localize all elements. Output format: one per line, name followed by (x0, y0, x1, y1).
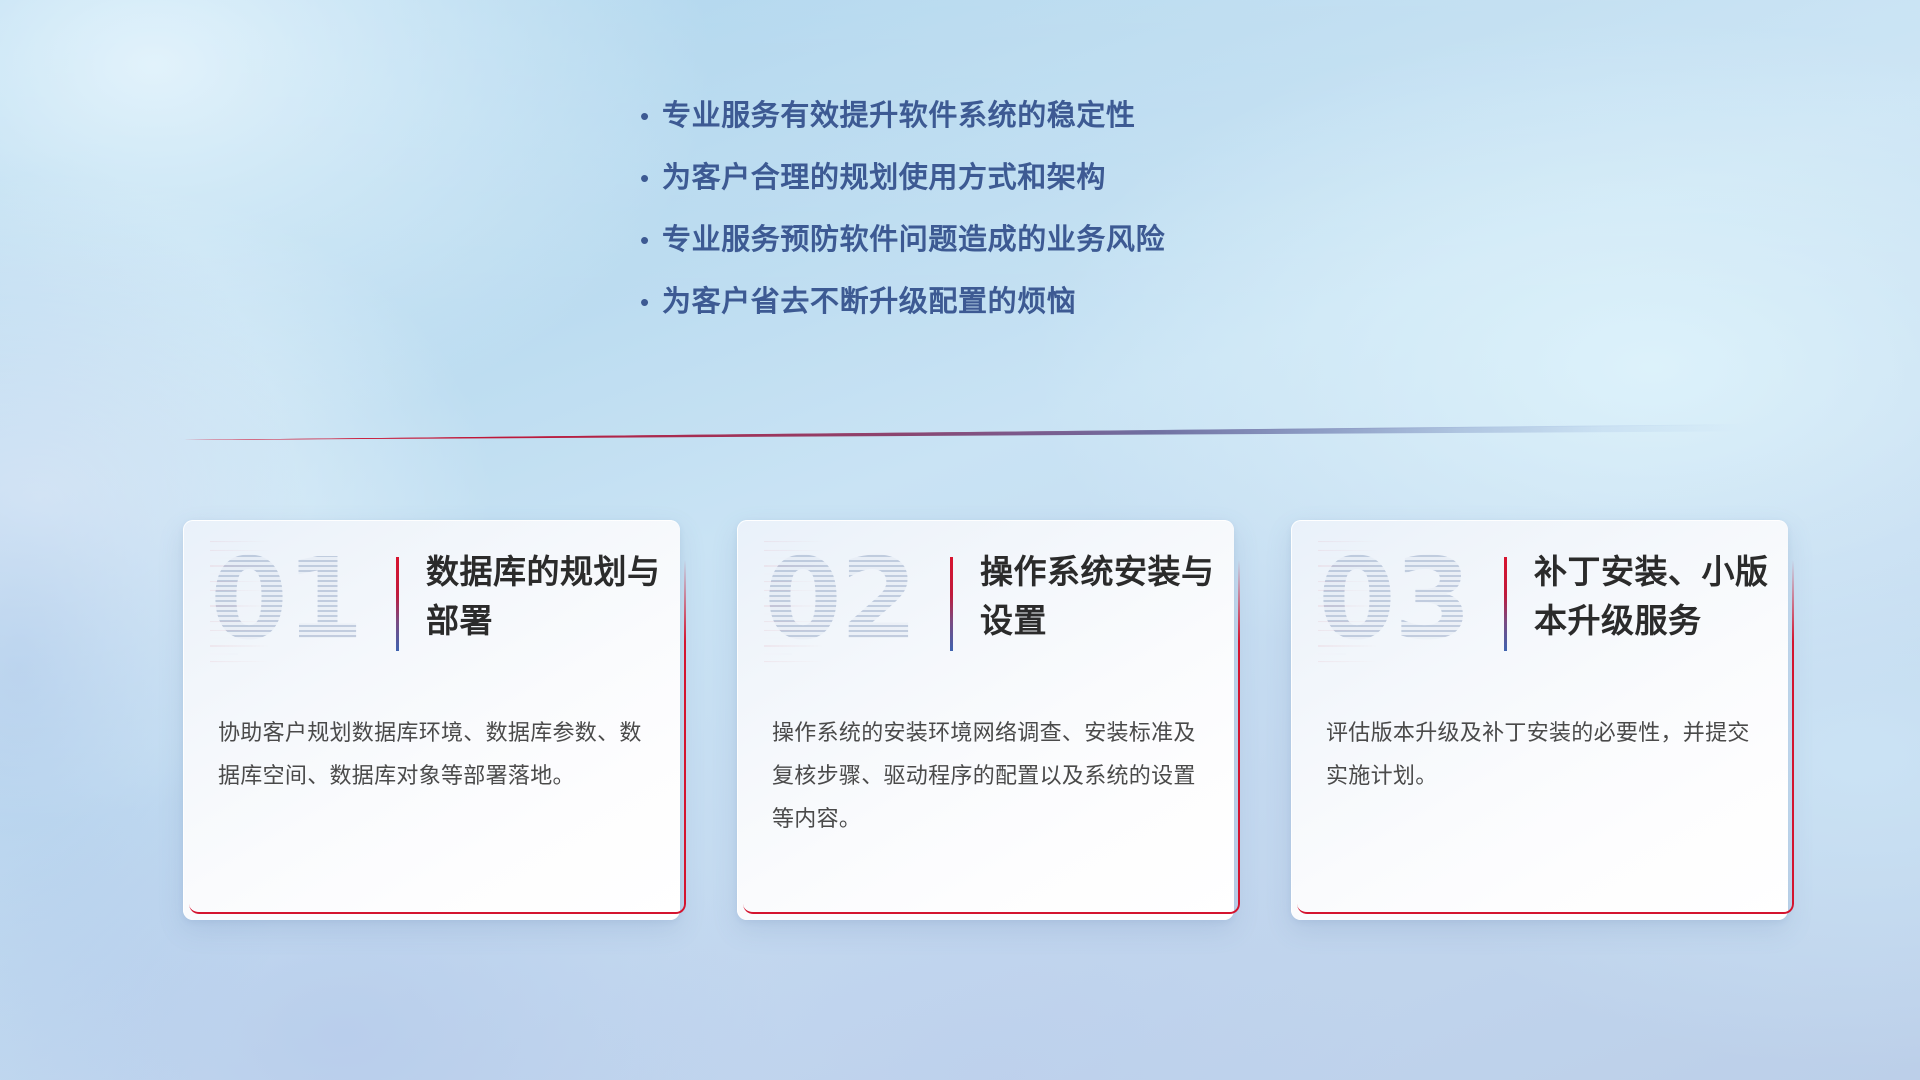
card-surface: 01 数据库的规划与部署 协助客户规划数据库环境、数据库参数、数据库空间、数据库… (183, 520, 680, 920)
card-body-text: 协助客户规划数据库环境、数据库参数、数据库空间、数据库对象等部署落地。 (218, 711, 654, 797)
card-title-rule (1504, 557, 1507, 651)
card-header: 02 操作系统安装与设置 (738, 521, 1234, 681)
list-item: • 为客户合理的规划使用方式和架构 (640, 158, 1400, 198)
card-header: 03 补丁安装、小版本升级服务 (1292, 521, 1788, 681)
card-body-text: 操作系统的安装环境网络调查、安装标准及复核步骤、驱动程序的配置以及系统的设置等内… (772, 711, 1208, 840)
card-number-watermark: 01 (210, 535, 362, 665)
card-title: 补丁安装、小版本升级服务 (1534, 547, 1770, 645)
service-card-grid: 01 数据库的规划与部署 协助客户规划数据库环境、数据库参数、数据库空间、数据库… (183, 520, 1788, 920)
card-title-rule (950, 557, 953, 651)
bullet-text: 专业服务预防软件问题造成的业务风险 (662, 220, 1165, 260)
benefits-bullet-list: • 专业服务有效提升软件系统的稳定性 • 为客户合理的规划使用方式和架构 • 专… (640, 96, 1400, 344)
list-item: • 为客户省去不断升级配置的烦恼 (640, 282, 1400, 322)
service-card-03[interactable]: 03 补丁安装、小版本升级服务 评估版本升级及补丁安装的必要性，并提交实施计划。 (1291, 520, 1788, 920)
card-title-rule (396, 557, 399, 651)
bullet-text: 为客户省去不断升级配置的烦恼 (662, 282, 1076, 322)
bullet-text: 专业服务有效提升软件系统的稳定性 (662, 96, 1136, 136)
card-header: 01 数据库的规划与部署 (184, 521, 680, 681)
bullet-dot-icon: • (640, 96, 662, 136)
card-surface: 02 操作系统安装与设置 操作系统的安装环境网络调查、安装标准及复核步骤、驱动程… (737, 520, 1234, 920)
list-item: • 专业服务预防软件问题造成的业务风险 (640, 220, 1400, 260)
bullet-dot-icon: • (640, 158, 662, 198)
bullet-dot-icon: • (640, 282, 662, 322)
section-divider (183, 424, 1743, 440)
divider-taper-shape (183, 424, 1743, 440)
card-number-watermark: 03 (1318, 535, 1470, 665)
bullet-text: 为客户合理的规划使用方式和架构 (662, 158, 1106, 198)
card-title: 操作系统安装与设置 (980, 547, 1216, 645)
card-surface: 03 补丁安装、小版本升级服务 评估版本升级及补丁安装的必要性，并提交实施计划。 (1291, 520, 1788, 920)
list-item: • 专业服务有效提升软件系统的稳定性 (640, 96, 1400, 136)
service-card-01[interactable]: 01 数据库的规划与部署 协助客户规划数据库环境、数据库参数、数据库空间、数据库… (183, 520, 680, 920)
card-number-watermark: 02 (764, 535, 916, 665)
bullet-dot-icon: • (640, 220, 662, 260)
service-card-02[interactable]: 02 操作系统安装与设置 操作系统的安装环境网络调查、安装标准及复核步骤、驱动程… (737, 520, 1234, 920)
card-title: 数据库的规划与部署 (426, 547, 662, 645)
card-body-text: 评估版本升级及补丁安装的必要性，并提交实施计划。 (1326, 711, 1762, 797)
